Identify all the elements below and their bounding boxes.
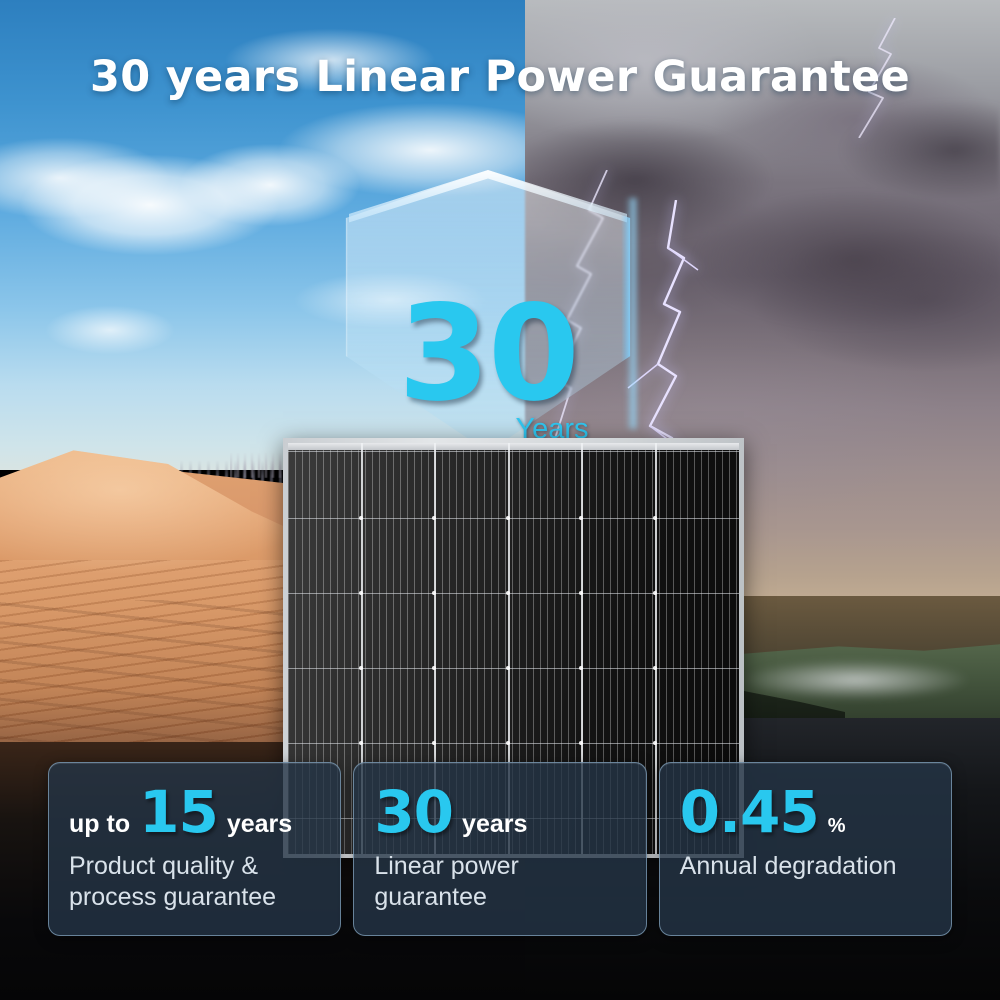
stat-card-linear-power: 30 years Linear power guarantee	[353, 762, 646, 936]
panel-solder-node	[359, 666, 363, 670]
panel-solder-node	[359, 516, 363, 520]
stat-description: Product quality & process guarantee	[69, 851, 320, 912]
stat-value-line: up to 15 years	[69, 785, 320, 841]
panel-row-divider	[288, 668, 739, 669]
panel-solder-node	[653, 591, 657, 595]
stat-unit: years	[227, 810, 292, 839]
panel-solder-node	[432, 666, 436, 670]
stat-value-line: 30 years	[374, 785, 625, 841]
panel-solder-node	[579, 516, 583, 520]
panel-row-divider	[288, 518, 739, 519]
promo-banner: 30 Years	[0, 0, 1000, 1000]
panel-row-divider	[288, 593, 739, 594]
panel-solder-node	[653, 666, 657, 670]
stat-unit: %	[828, 815, 846, 838]
panel-top-rail	[288, 443, 739, 450]
panel-solder-node	[579, 741, 583, 745]
warranty-stats-row: up to 15 years Product quality & process…	[48, 762, 952, 936]
stat-unit: years	[462, 810, 527, 839]
panel-solder-node	[432, 591, 436, 595]
lightning-bolt-secondary	[525, 170, 655, 470]
panel-solder-node	[359, 591, 363, 595]
panel-solder-node	[506, 591, 510, 595]
panel-row-divider	[288, 743, 739, 744]
panel-solder-node	[579, 591, 583, 595]
stat-description-line1: Annual degradation	[680, 851, 931, 882]
panel-solder-node	[653, 741, 657, 745]
panel-solder-node	[579, 666, 583, 670]
panel-solder-node	[432, 516, 436, 520]
stat-card-annual-degradation: 0.45 % Annual degradation	[659, 762, 952, 936]
stat-prefix: up to	[69, 810, 130, 839]
stat-description-line1: Linear power	[374, 851, 625, 882]
panel-solder-node	[653, 516, 657, 520]
stat-number: 0.45	[680, 785, 819, 840]
panel-solder-node	[506, 741, 510, 745]
panel-solder-node	[359, 741, 363, 745]
stat-description: Linear power guarantee	[374, 851, 625, 912]
page-title: 30 years Linear Power Guarantee	[0, 52, 1000, 102]
panel-solder-node	[432, 741, 436, 745]
panel-row-divider	[288, 451, 739, 452]
stat-description-line1: Product quality &	[69, 851, 320, 882]
stat-description: Annual degradation	[680, 851, 931, 882]
panel-solder-node	[506, 516, 510, 520]
stat-card-product-quality: up to 15 years Product quality & process…	[48, 762, 341, 936]
stat-description-line2: process guarantee	[69, 882, 320, 913]
mist-layer	[705, 650, 1000, 710]
stat-number: 30	[374, 785, 453, 840]
panel-solder-node	[506, 666, 510, 670]
stat-description-line2: guarantee	[374, 882, 625, 913]
stat-number: 15	[139, 785, 218, 840]
stat-value-line: 0.45 %	[680, 785, 931, 841]
